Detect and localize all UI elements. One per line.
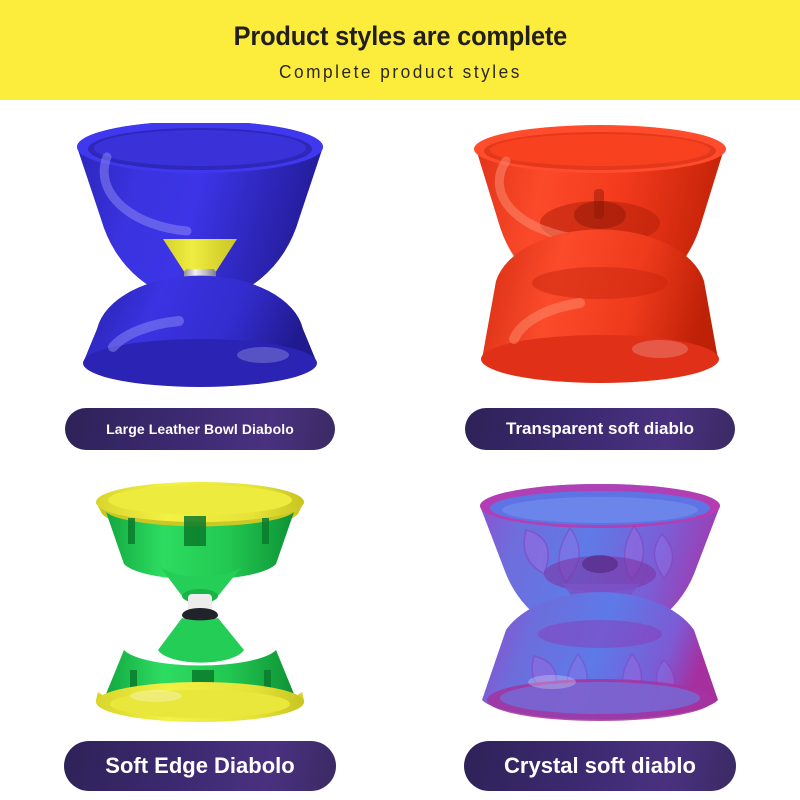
product-image-crystal-diabolo [450, 460, 750, 741]
diabolo-icon [66, 478, 334, 728]
page-subtitle: Complete product styles [279, 63, 522, 81]
product-image-blue-diabolo [50, 100, 350, 408]
product-label-text: Soft Edge Diabolo [105, 753, 294, 779]
page-header: Product styles are complete Complete pro… [0, 0, 800, 100]
product-label-text: Transparent soft diablo [506, 419, 694, 439]
page-title: Product styles are complete [233, 23, 566, 50]
product-card-large-leather-bowl-diabolo[interactable]: Large Leather Bowl Diabolo [0, 100, 400, 460]
product-card-transparent-soft-diablo[interactable]: Transparent soft diablo [400, 100, 800, 460]
product-grid: Large Leather Bowl Diabolo [0, 100, 800, 800]
product-label-pill[interactable]: Crystal soft diablo [464, 741, 736, 791]
product-image-green-diabolo [50, 460, 350, 741]
product-image-red-diabolo [450, 100, 750, 408]
product-label-pill[interactable]: Soft Edge Diabolo [64, 741, 336, 791]
diabolo-icon [67, 123, 333, 391]
diabolo-icon [464, 123, 736, 391]
product-label-text: Large Leather Bowl Diabolo [106, 421, 294, 437]
product-card-crystal-soft-diablo[interactable]: Crystal soft diablo [400, 460, 800, 800]
product-label-text: Crystal soft diablo [504, 753, 696, 779]
diabolo-icon [466, 478, 734, 728]
product-label-pill[interactable]: Large Leather Bowl Diabolo [65, 408, 335, 450]
product-card-soft-edge-diabolo[interactable]: Soft Edge Diabolo [0, 460, 400, 800]
product-label-pill[interactable]: Transparent soft diablo [465, 408, 735, 450]
